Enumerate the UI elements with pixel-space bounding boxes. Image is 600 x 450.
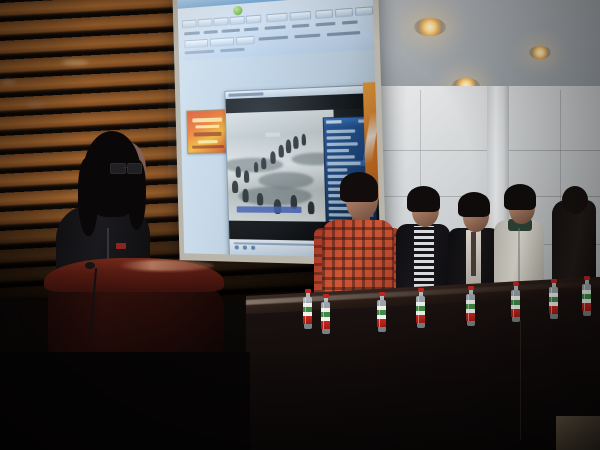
video-frame[interactable] — [226, 110, 337, 222]
hair — [407, 186, 440, 212]
ribbon-button[interactable] — [182, 19, 197, 28]
ribbon-button[interactable] — [197, 18, 212, 27]
ribbon-label — [204, 30, 218, 34]
eyeglasses-bridge — [123, 167, 128, 168]
head — [562, 186, 588, 214]
eyeglasses-icon — [110, 163, 126, 174]
slide-thumbnail[interactable] — [186, 109, 230, 154]
hair — [458, 192, 490, 217]
ribbon-label — [327, 31, 360, 36]
ribbon-button[interactable] — [236, 36, 255, 45]
necktie — [471, 232, 476, 276]
stop-button-icon[interactable] — [251, 246, 255, 250]
speaker-badge — [116, 243, 126, 249]
hair — [504, 184, 536, 210]
table-panel-seam — [520, 320, 521, 440]
floor — [556, 416, 600, 450]
play-button-icon[interactable] — [235, 245, 239, 249]
ribbon-label — [342, 20, 358, 24]
pause-button-icon[interactable] — [243, 245, 247, 249]
foreground-shadow — [0, 352, 250, 450]
ribbon-button[interactable] — [229, 16, 244, 25]
ribbon-label — [244, 27, 258, 31]
downlight-icon — [414, 18, 446, 36]
ribbon-button[interactable] — [246, 15, 262, 24]
downlight-icon — [529, 46, 551, 59]
ribbon-button[interactable] — [355, 6, 373, 16]
ribbon-label — [259, 36, 288, 41]
speaker-hair-left — [78, 158, 98, 236]
podium-highlight — [118, 260, 214, 271]
ribbon-green-icon — [233, 6, 242, 16]
microphone-head-icon — [85, 262, 95, 269]
eyeglasses-icon — [127, 163, 142, 174]
ribbon-button[interactable] — [289, 11, 311, 21]
ribbon-button[interactable] — [184, 39, 208, 49]
video-caption-bar — [237, 206, 302, 213]
ribbon-label — [265, 25, 286, 30]
ribbon-label — [184, 31, 200, 35]
ribbon-label — [220, 48, 244, 53]
ribbon-button[interactable] — [335, 8, 353, 18]
hair — [340, 172, 378, 202]
video-timecode — [265, 132, 280, 137]
ribbon-button[interactable] — [315, 9, 333, 19]
ribbon-label — [185, 50, 215, 55]
conference-room-photo — [0, 0, 600, 450]
ribbon-button[interactable] — [266, 13, 287, 23]
ribbon-label — [222, 29, 240, 33]
ribbon-button[interactable] — [210, 37, 234, 47]
ribbon-button[interactable] — [213, 17, 228, 26]
ribbon-label — [294, 34, 320, 39]
ribbon-label — [316, 22, 336, 27]
player-title-text — [228, 92, 263, 97]
ribbon-label — [292, 24, 309, 28]
playlist-title-text — [326, 120, 342, 124]
